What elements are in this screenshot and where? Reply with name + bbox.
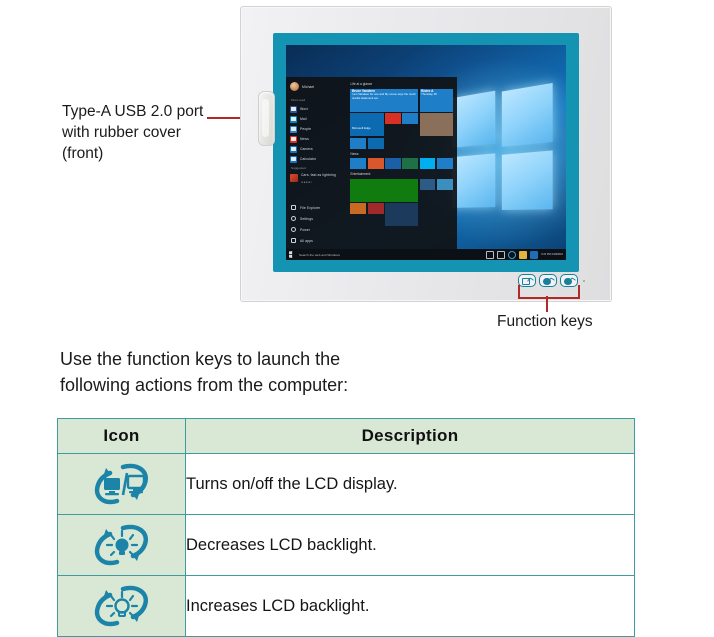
start-menu-item-all-apps[interactable]: All apps: [290, 235, 344, 246]
file-explorer-icon[interactable]: [519, 251, 527, 259]
start-menu-item-label: File Explorer: [300, 206, 320, 210]
cell-description: Increases LCD backlight.: [186, 576, 635, 637]
tile-people[interactable]: [402, 113, 418, 124]
tile-store[interactable]: [368, 138, 384, 149]
mail-icon: [290, 116, 297, 123]
windows-start-menu: Michael Most used Word Mail: [286, 77, 457, 249]
tile-tv[interactable]: [437, 179, 453, 190]
taskbar-pinned-icons: [486, 251, 538, 259]
section-most-used: Most used: [291, 98, 344, 102]
start-menu-item-power[interactable]: Power: [290, 224, 344, 235]
device-chassis: Michael Most used Word Mail: [240, 6, 612, 302]
start-menu-suggested-app[interactable]: Cars: fast as lightning ★★★★☆: [290, 172, 344, 183]
led-indicator-icon: [583, 280, 585, 282]
cortana-icon[interactable]: [486, 251, 494, 259]
function-keys-table: Icon Description Tu: [57, 418, 635, 637]
cell-icon: [58, 576, 186, 637]
task-view-icon[interactable]: [497, 251, 505, 259]
tile-groove[interactable]: [350, 138, 366, 149]
all-apps-icon: [290, 237, 297, 244]
tile-excel[interactable]: [402, 158, 418, 169]
device-screen: Michael Most used Word Mail: [286, 45, 566, 260]
start-menu-item-file-explorer[interactable]: File Explorer: [290, 202, 344, 213]
people-icon: [290, 126, 297, 133]
tile-title: Microsoft Edge: [352, 126, 371, 130]
intro-line-2: following actions from the computer:: [60, 372, 480, 398]
tile-group-header-3: Entertainment: [350, 172, 452, 176]
table-header-row: Icon Description: [58, 419, 635, 454]
panel-pc-illustration: Michael Most used Word Mail: [240, 6, 610, 300]
callout-usb-line-2: with rubber cover: [62, 122, 237, 143]
start-menu-item-label: Mail: [300, 117, 307, 121]
intro-line-1: Use the function keys to launch the: [60, 346, 480, 372]
cell-description: Turns on/off the LCD display.: [186, 454, 635, 515]
gear-icon: [290, 215, 297, 222]
store-icon[interactable]: [530, 251, 538, 259]
backlight-increase-icon: [93, 584, 151, 628]
tile-powerpoint[interactable]: [368, 158, 384, 169]
start-menu-item-camera[interactable]: Camera: [290, 144, 344, 154]
cell-description: Decreases LCD backlight.: [186, 515, 635, 576]
column-header-description: Description: [186, 419, 635, 454]
callout-usb-line-3: (front): [62, 143, 237, 164]
start-menu-item-people[interactable]: People: [290, 124, 344, 134]
start-menu-item-settings[interactable]: Settings: [290, 213, 344, 224]
tile-game-1[interactable]: [350, 203, 366, 214]
start-menu-left-column: Michael Most used Word Mail: [286, 77, 347, 249]
taskbar-clock[interactable]: 3:15 PM 2/18/2016: [541, 253, 563, 256]
device-bezel: Michael Most used Word Mail: [273, 33, 579, 272]
user-name: Michael: [302, 85, 314, 89]
table-row: Increases LCD backlight.: [58, 576, 635, 637]
start-menu-user[interactable]: Michael: [290, 82, 344, 91]
tile-office[interactable]: [385, 113, 401, 124]
callout-function-keys-stem: [546, 296, 548, 312]
tile-microsoft-edge[interactable]: Microsoft Edge: [350, 113, 383, 136]
avatar: [290, 82, 299, 91]
lcd-display-toggle-icon: [93, 462, 151, 506]
tile-mail[interactable]: Bruce Vandeen I am Vandeen for one and M…: [350, 89, 418, 112]
column-header-icon: Icon: [58, 419, 186, 454]
table-row: Decreases LCD backlight.: [58, 515, 635, 576]
table-row: Turns on/off the LCD display.: [58, 454, 635, 515]
tile-onenote[interactable]: [437, 158, 453, 169]
tile-xbox[interactable]: [350, 179, 418, 202]
start-menu-bottom-items: File Explorer Settings Power: [290, 202, 344, 246]
suggested-app-label: Cars: fast as lightning: [301, 173, 336, 177]
start-menu-item-label: Camera: [300, 147, 313, 151]
start-menu-item-label: People: [300, 127, 311, 131]
start-menu-item-mail[interactable]: Mail: [290, 114, 344, 124]
news-icon: [290, 136, 297, 143]
usb-rubber-cover: [258, 91, 275, 146]
tile-foot: Thursday 18: [421, 92, 437, 96]
edge-icon[interactable]: [508, 251, 516, 259]
tile-skype[interactable]: [420, 158, 436, 169]
start-button-icon[interactable]: [289, 251, 296, 258]
intro-paragraph: Use the function keys to launch the foll…: [60, 346, 480, 398]
power-icon: [290, 226, 297, 233]
game-icon: [290, 174, 298, 182]
start-menu-tiles: Life at a glance Bruce Vandeen I am Vand…: [347, 77, 456, 249]
callout-function-keys-bracket: [518, 285, 580, 299]
start-menu-item-news[interactable]: News: [290, 134, 344, 144]
cell-icon: [58, 515, 186, 576]
tile-body: I am Vandeen for one and My scene says t…: [352, 92, 416, 99]
windows-logo-icon: [452, 81, 553, 211]
tile-game-2[interactable]: [368, 203, 384, 214]
word-icon: [290, 106, 297, 113]
start-menu-item-label: Power: [300, 228, 310, 232]
camera-icon: [290, 146, 297, 153]
tile-movies[interactable]: [420, 179, 436, 190]
calculator-icon: [290, 156, 297, 163]
start-menu-item-word[interactable]: Word: [290, 104, 344, 114]
start-menu-item-calculator[interactable]: Calculator: [290, 154, 344, 164]
start-menu-item-label: Calculator: [300, 157, 316, 161]
tile-group-header-2: News: [350, 152, 452, 156]
folder-icon: [290, 204, 297, 211]
taskbar-search-input[interactable]: Search the web and Windows: [299, 253, 483, 257]
start-menu-item-label: Settings: [300, 217, 313, 221]
tile-outlook[interactable]: [385, 158, 401, 169]
callout-function-keys-label: Function keys: [497, 313, 593, 331]
tile-word[interactable]: [350, 158, 366, 169]
start-menu-item-label: News: [300, 137, 309, 141]
cell-icon: [58, 454, 186, 515]
tile-group-header-1: Life at a glance: [350, 82, 452, 86]
tile-calendar[interactable]: Bistro A Thursday 18: [420, 89, 453, 112]
backlight-decrease-icon: [93, 523, 151, 567]
callout-usb-label: Type-A USB 2.0 port with rubber cover (f…: [62, 101, 237, 164]
windows-taskbar: Search the web and Windows 3:15 PM 2/18/…: [286, 249, 566, 260]
tile-halo[interactable]: [385, 203, 418, 226]
start-menu-item-label: Word: [300, 107, 308, 111]
start-menu-item-label: All apps: [300, 239, 313, 243]
tile-photos[interactable]: [420, 113, 453, 136]
